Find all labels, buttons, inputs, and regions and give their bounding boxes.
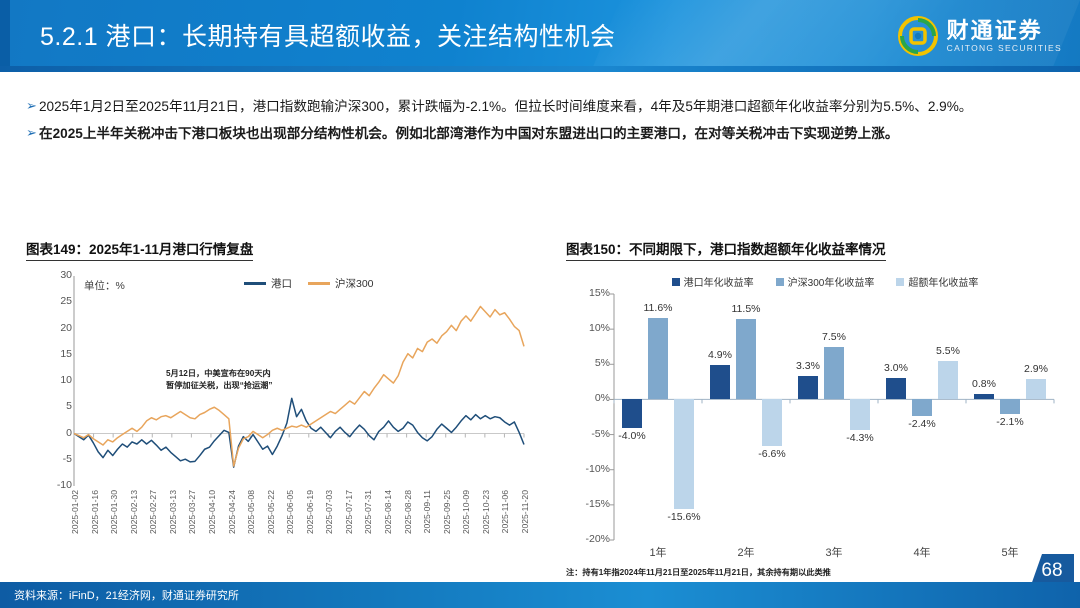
- bar-chart-note: 注：持有1年指2024年11月21日至2025年11月21日，其余持有期以此类推: [566, 566, 831, 578]
- line-chart-y-tick: 25: [60, 295, 72, 307]
- page-footer: 资料来源：iFinD，21经济网，财通证券研究所: [0, 582, 1080, 608]
- line-chart-x-tick: 2025-06-19: [305, 490, 315, 534]
- line-chart-y-tick: 0: [66, 427, 72, 439]
- bar-value-label: 11.6%: [634, 302, 682, 314]
- line-chart-x-tick: 2025-01-02: [70, 490, 80, 534]
- line-chart-x-tick: 2025-05-08: [246, 490, 256, 534]
- bar-value-label: -4.0%: [608, 430, 656, 442]
- figure-149-title: 图表149：2025年1-11月港口行情复盘: [26, 238, 253, 261]
- bullet-text: 在2025上半年关税冲击下港口板块也出现部分结构性机会。例如北部湾港作为中国对东…: [39, 123, 898, 144]
- bar-value-label: -2.1%: [986, 416, 1034, 428]
- bar-chart-y-tick: 0%: [595, 392, 610, 404]
- bar-value-label: -2.4%: [898, 418, 946, 430]
- bar: [850, 399, 870, 429]
- bar: [912, 399, 932, 416]
- line-chart-y-tick: 5: [66, 400, 72, 412]
- line-chart-x-tick: 2025-03-13: [168, 490, 178, 534]
- legend-label: 超额年化收益率: [908, 274, 978, 289]
- bar-chart-x-axis: 1年2年3年4年5年: [614, 544, 1054, 560]
- bar: [824, 347, 844, 400]
- legend-color-swatch: [896, 278, 904, 286]
- line-chart-x-tick: 2025-08-14: [383, 490, 393, 534]
- line-chart-x-tick: 2025-04-10: [207, 490, 217, 534]
- bar-chart-legend-item: 沪深300年化收益率: [776, 274, 875, 289]
- bullet-list: ➢ 2025年1月2日至2025年11月21日，港口指数跑输沪深300，累计跌幅…: [26, 96, 1056, 150]
- bullet-text: 2025年1月2日至2025年11月21日，港口指数跑输沪深300，累计跌幅为-…: [39, 96, 972, 117]
- bullet-item: ➢ 2025年1月2日至2025年11月21日，港口指数跑输沪深300，累计跌幅…: [26, 96, 1056, 117]
- line-chart-x-tick: 2025-07-17: [344, 490, 354, 534]
- line-chart-y-tick: 15: [60, 348, 72, 360]
- bar-chart-y-tick: 5%: [595, 357, 610, 369]
- legend-color-swatch: [672, 278, 680, 286]
- bar-chart-y-tick: -15%: [585, 498, 610, 510]
- bar-value-label: -15.6%: [660, 511, 708, 523]
- bar-chart-fig150: 港口年化收益率沪深300年化收益率超额年化收益率 15%10%5%0%-5%-1…: [566, 268, 1066, 578]
- bar: [710, 365, 730, 399]
- bar-chart-legend: 港口年化收益率沪深300年化收益率超额年化收益率: [590, 274, 1060, 289]
- line-chart-y-tick: 20: [60, 322, 72, 334]
- line-chart-y-tick: 10: [60, 374, 72, 386]
- line-chart-x-tick: 2025-02-27: [148, 490, 158, 534]
- line-chart-x-tick: 2025-07-31: [363, 490, 373, 534]
- bar-chart-x-tick: 1年: [614, 544, 702, 560]
- bar: [674, 399, 694, 509]
- logo-english-name: CAITONG SECURITIES: [947, 43, 1062, 53]
- bar: [938, 361, 958, 400]
- line-chart-x-tick: 2025-06-05: [285, 490, 295, 534]
- figure-150-title: 图表150：不同期限下，港口指数超额年化收益率情况: [566, 238, 886, 261]
- bar-chart-legend-item: 港口年化收益率: [672, 274, 754, 289]
- bar-chart-y-tick: -10%: [585, 463, 610, 475]
- line-chart-x-tick: 2025-10-23: [481, 490, 491, 534]
- bar: [1000, 399, 1020, 414]
- legend-color-swatch: [776, 278, 784, 286]
- bar: [798, 376, 818, 399]
- line-chart-x-tick: 2025-09-25: [442, 490, 452, 534]
- caitong-logo-icon: [898, 16, 938, 56]
- bar-chart-y-tick: 15%: [589, 287, 610, 299]
- line-chart-x-tick: 2025-11-06: [500, 490, 510, 533]
- line-chart-x-tick: 2025-11-20: [520, 490, 530, 533]
- legend-label: 港口年化收益率: [684, 274, 754, 289]
- bar-chart-y-tick: -20%: [585, 533, 610, 545]
- line-chart-y-tick: 30: [60, 269, 72, 281]
- bar-value-label: -4.3%: [836, 432, 884, 444]
- line-chart-x-tick: 2025-07-03: [324, 490, 334, 534]
- bullet-item: ➢ 在2025上半年关税冲击下港口板块也出现部分结构性机会。例如北部湾港作为中国…: [26, 123, 1056, 144]
- bullet-arrow-icon: ➢: [26, 96, 39, 116]
- company-logo: 财通证券 CAITONG SECURITIES: [898, 12, 1062, 60]
- page-number: 68: [1041, 560, 1062, 582]
- bar-value-label: 2.9%: [1012, 363, 1060, 375]
- line-chart-x-tick: 2025-08-28: [403, 490, 413, 534]
- left-figure-panel: 图表149：2025年1-11月港口行情复盘: [26, 238, 546, 261]
- header-underline: [0, 66, 1080, 72]
- bar: [1026, 379, 1046, 399]
- bar: [736, 319, 756, 400]
- right-figure-panel: 图表150：不同期限下，港口指数超额年化收益率情况: [566, 238, 1066, 261]
- bullet-arrow-icon: ➢: [26, 123, 39, 143]
- line-chart-x-tick: 2025-01-16: [90, 490, 100, 534]
- bar: [886, 378, 906, 399]
- bar-chart-legend-item: 超额年化收益率: [896, 274, 978, 289]
- bar-value-label: 7.5%: [810, 331, 858, 343]
- source-text: 资料来源：iFinD，21经济网，财通证券研究所: [14, 587, 239, 603]
- bar-value-label: 0.8%: [960, 378, 1008, 390]
- line-chart-plot-area: [74, 276, 524, 486]
- line-chart-x-tick: 2025-04-24: [227, 490, 237, 534]
- bar-value-label: 3.0%: [872, 362, 920, 374]
- bar: [622, 399, 642, 427]
- logo-text-block: 财通证券 CAITONG SECURITIES: [947, 19, 1062, 53]
- bar: [648, 318, 668, 400]
- bar-value-label: 5.5%: [924, 345, 972, 357]
- page-header: 5.2.1 港口：长期持有具超额收益，关注结构性机会 财通证券 CAITONG …: [0, 0, 1080, 72]
- header-accent-bar: [0, 0, 10, 72]
- line-chart-fig149: 单位：% 港口沪深300 302520151050-5-10 5月12日，中美宣…: [26, 268, 546, 568]
- bar-chart-x-tick: 3年: [790, 544, 878, 560]
- bar: [974, 394, 994, 400]
- logo-chinese-name: 财通证券: [947, 19, 1062, 42]
- bar-value-label: 11.5%: [722, 303, 770, 315]
- line-chart-x-tick: 2025-03-27: [187, 490, 197, 534]
- legend-label: 沪深300年化收益率: [788, 274, 875, 289]
- bar: [762, 399, 782, 445]
- line-chart-x-tick: 2025-05-22: [266, 490, 276, 534]
- line-chart-x-tick: 2025-10-09: [461, 490, 471, 534]
- line-chart-y-tick: -5: [63, 453, 72, 465]
- line-chart-x-tick: 2025-09-11: [422, 490, 432, 533]
- bar-chart-x-tick: 4年: [878, 544, 966, 560]
- line-chart-x-tick: 2025-01-30: [109, 490, 119, 534]
- page-title: 5.2.1 港口：长期持有具超额收益，关注结构性机会: [40, 17, 616, 53]
- line-chart-x-tick: 2025-02-13: [129, 490, 139, 534]
- line-chart-x-axis: 2025-01-022025-01-162025-01-302025-02-13…: [74, 490, 524, 564]
- bar-value-label: -6.6%: [748, 448, 796, 460]
- bar-chart-plot-area: -4.0%11.6%-15.6%4.9%11.5%-6.6%3.3%7.5%-4…: [614, 294, 1054, 540]
- bar-chart-y-tick: 10%: [589, 322, 610, 334]
- bar-chart-x-tick: 2年: [702, 544, 790, 560]
